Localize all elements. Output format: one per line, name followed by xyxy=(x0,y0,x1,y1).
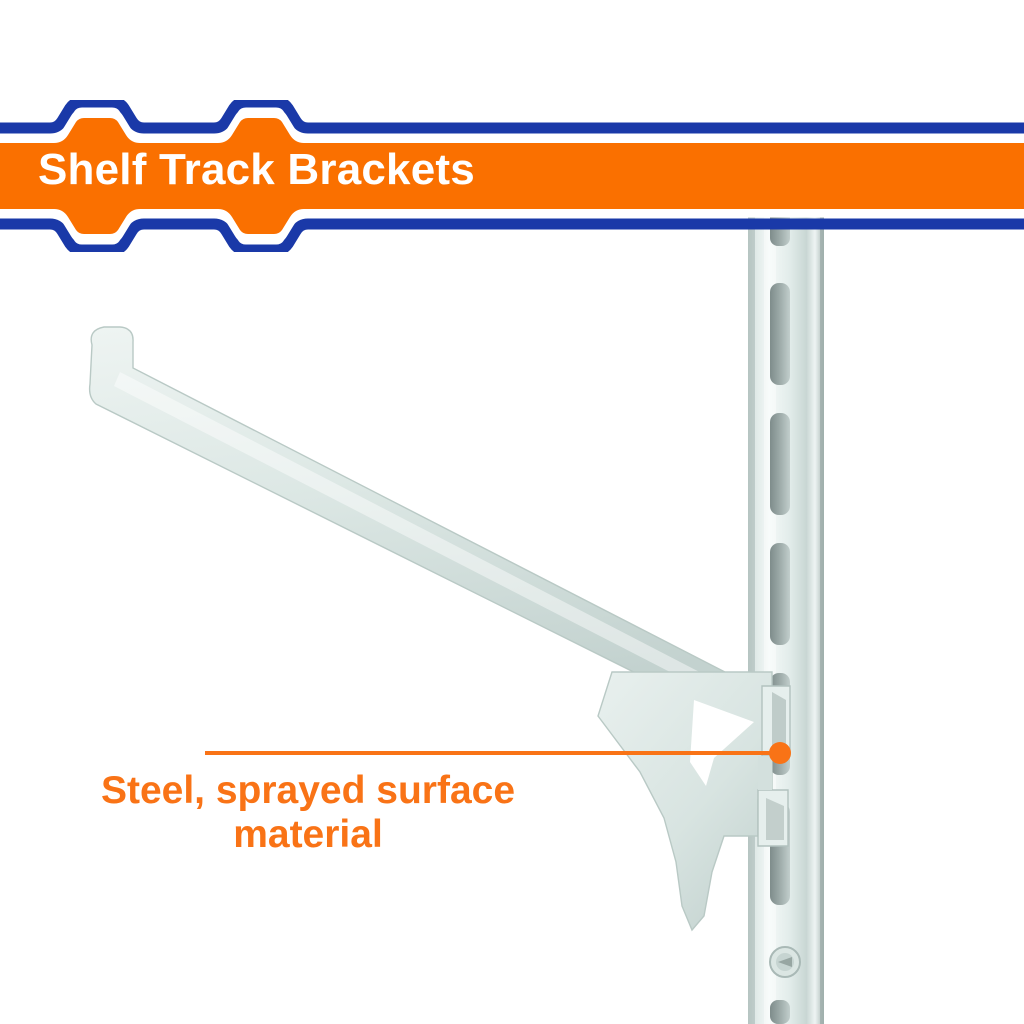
page-title: Shelf Track Brackets xyxy=(38,148,475,192)
callout-caption-line-2: material xyxy=(30,813,586,857)
callout-leader-line xyxy=(205,751,783,755)
callout-leader-dot xyxy=(769,742,791,764)
track-rivet xyxy=(770,947,800,977)
infographic-canvas: Shelf Track Brackets Steel, sprayed surf… xyxy=(0,0,1024,1024)
bracket-body xyxy=(598,672,772,930)
callout-caption: Steel, sprayed surface material xyxy=(30,769,586,856)
wall-track xyxy=(748,196,824,1024)
track-slots xyxy=(770,200,790,1024)
callout-caption-line-1: Steel, sprayed surface xyxy=(30,769,586,813)
